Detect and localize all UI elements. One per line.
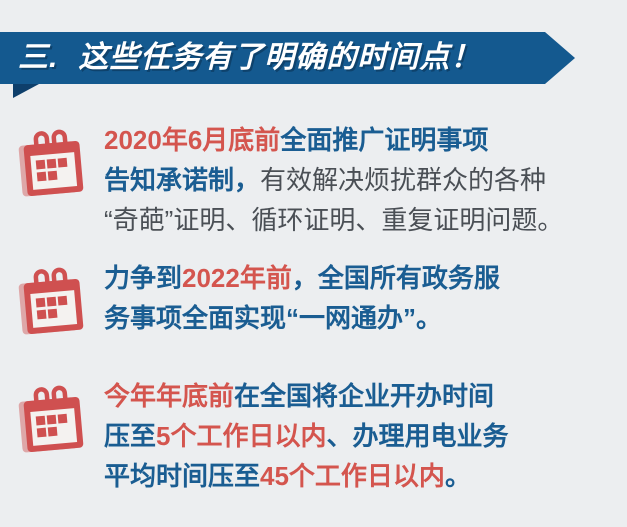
- task-text-line: “奇葩”证明、循环证明、重复证明问题。: [104, 200, 619, 240]
- task-item: 今年年底前在全国将企业开办时间压至5个工作日以内、办理用电业务平均时间压至45个…: [0, 376, 627, 496]
- text-segment-red: 45个工作日以内: [260, 461, 445, 491]
- text-segment-blue: 在全国将企业开办时间: [234, 381, 494, 411]
- task-text-line: 平均时间压至45个工作日以内。: [104, 456, 619, 496]
- calendar-icon: [16, 264, 90, 338]
- calendar-icon: [16, 126, 90, 200]
- calendar-icon: [16, 382, 90, 456]
- text-segment-blue: 压至: [104, 421, 156, 451]
- text-segment-blue: 务事项全面实现“一网通办”。: [104, 303, 442, 333]
- calendar-icon: [16, 126, 90, 200]
- task-item: 2020年6月底前全面推广证明事项告知承诺制，有效解决烦扰群众的各种“奇葩”证明…: [0, 120, 627, 240]
- task-text-line: 2020年6月底前全面推广证明事项: [104, 120, 619, 160]
- task-list: 2020年6月底前全面推广证明事项告知承诺制，有效解决烦扰群众的各种“奇葩”证明…: [0, 120, 627, 514]
- text-segment-blue: ，全国所有政务服: [292, 263, 500, 293]
- task-item-text: 今年年底前在全国将企业开办时间压至5个工作日以内、办理用电业务平均时间压至45个…: [104, 376, 619, 496]
- text-segment-red: 2022年前: [182, 263, 292, 293]
- banner-tail-triangle: [13, 84, 39, 98]
- text-segment-red: 5个工作日以内: [156, 421, 326, 451]
- text-segment-gray: 有效解决烦扰群众的各种: [260, 165, 546, 195]
- text-segment-blue: 全面推广证明事项: [280, 125, 488, 155]
- task-text-line: 压至5个工作日以内、办理用电业务: [104, 416, 619, 456]
- text-segment-blue: 、办理用电业务: [326, 421, 508, 451]
- task-text-line: 力争到2022年前，全国所有政务服: [104, 258, 619, 298]
- task-text-line: 今年年底前在全国将企业开办时间: [104, 376, 619, 416]
- text-segment-blue: 平均时间压至: [104, 461, 260, 491]
- text-segment-red: 今年年底前: [104, 381, 234, 411]
- task-text-line: 务事项全面实现“一网通办”。: [104, 298, 619, 338]
- section-header-banner: 三. 这些任务有了明确的时间点！: [0, 32, 575, 84]
- text-segment-gray: “奇葩”证明、循环证明、重复证明问题。: [104, 205, 563, 235]
- text-segment-red: 2020年6月底前: [104, 125, 280, 155]
- task-item-text: 力争到2022年前，全国所有政务服务事项全面实现“一网通办”。: [104, 258, 619, 338]
- text-segment-blue: 告知承诺制，: [104, 165, 260, 195]
- task-text-line: 告知承诺制，有效解决烦扰群众的各种: [104, 160, 619, 200]
- calendar-icon: [16, 382, 90, 456]
- task-item: 力争到2022年前，全国所有政务服务事项全面实现“一网通办”。: [0, 258, 627, 358]
- calendar-icon: [16, 264, 90, 338]
- banner-content: 三. 这些任务有了明确的时间点！: [0, 32, 575, 84]
- page-title: 这些任务有了明确的时间点！: [78, 43, 481, 73]
- section-number: 三.: [18, 43, 58, 73]
- task-item-text: 2020年6月底前全面推广证明事项告知承诺制，有效解决烦扰群众的各种“奇葩”证明…: [104, 120, 619, 240]
- text-segment-blue: 力争到: [104, 263, 182, 293]
- text-segment-blue: 。: [445, 461, 471, 491]
